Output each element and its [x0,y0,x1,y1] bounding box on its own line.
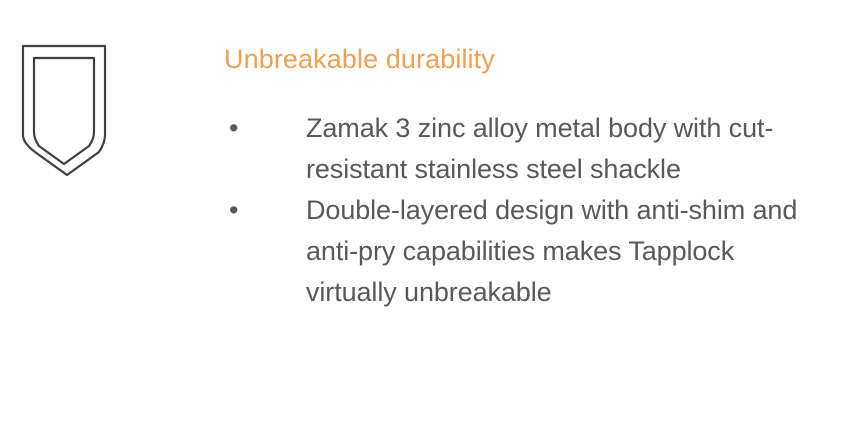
page-title: Unbreakable durability [224,40,824,78]
list-item-label: Zamak 3 zinc alloy metal body with cut-r… [306,108,824,190]
slide-content-block: Unbreakable durability • Zamak 3 zinc al… [0,0,846,434]
shield-outer-outline [23,46,105,175]
list-item: • Zamak 3 zinc alloy metal body with cut… [224,108,824,190]
feature-bullet-list: • Zamak 3 zinc alloy metal body with cut… [224,108,824,313]
bullet-point-icon: • [229,190,243,231]
bullet-point-icon: • [229,108,243,149]
shield-inner-outline [34,58,94,164]
list-item-label: Double-layered design with anti-shim and… [306,190,824,313]
shield-icon [18,42,114,180]
text-column: Unbreakable durability • Zamak 3 zinc al… [224,40,824,313]
list-item: • Double-layered design with anti-shim a… [224,190,824,313]
